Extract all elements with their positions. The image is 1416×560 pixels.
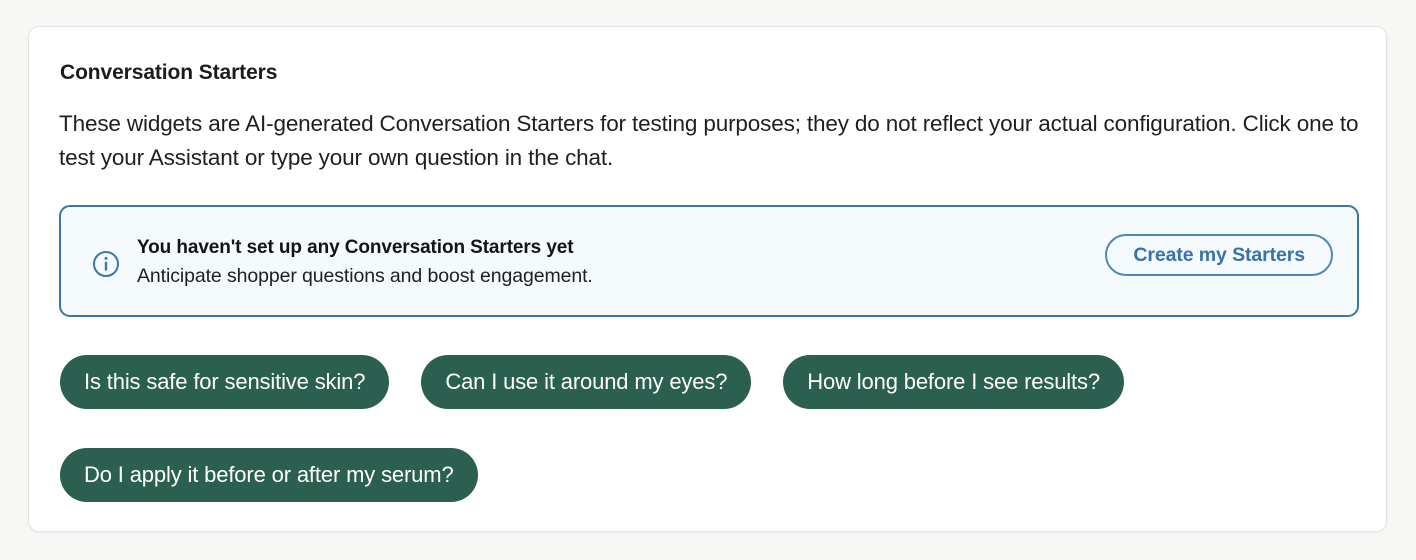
starter-chip-2[interactable]: Can I use it around my eyes? bbox=[421, 355, 751, 409]
starter-chip-4[interactable]: Do I apply it before or after my serum? bbox=[60, 448, 478, 502]
info-circle-icon bbox=[92, 250, 120, 278]
create-my-starters-button[interactable]: Create my Starters bbox=[1105, 234, 1333, 276]
conversation-starters-card: Conversation Starters These widgets are … bbox=[28, 26, 1387, 532]
starter-chip-3[interactable]: How long before I see results? bbox=[783, 355, 1124, 409]
empty-state-banner: You haven't set up any Conversation Star… bbox=[59, 205, 1359, 317]
page-title: Conversation Starters bbox=[60, 61, 277, 85]
starter-chip-1[interactable]: Is this safe for sensitive skin? bbox=[60, 355, 389, 409]
banner-heading: You haven't set up any Conversation Star… bbox=[137, 234, 1017, 262]
banner-subtext: Anticipate shopper questions and boost e… bbox=[137, 262, 1017, 291]
banner-text-block: You haven't set up any Conversation Star… bbox=[137, 234, 1017, 291]
conversation-starter-chips: Is this safe for sensitive skin? Can I u… bbox=[60, 355, 1360, 502]
card-description: These widgets are AI-generated Conversat… bbox=[59, 107, 1359, 175]
